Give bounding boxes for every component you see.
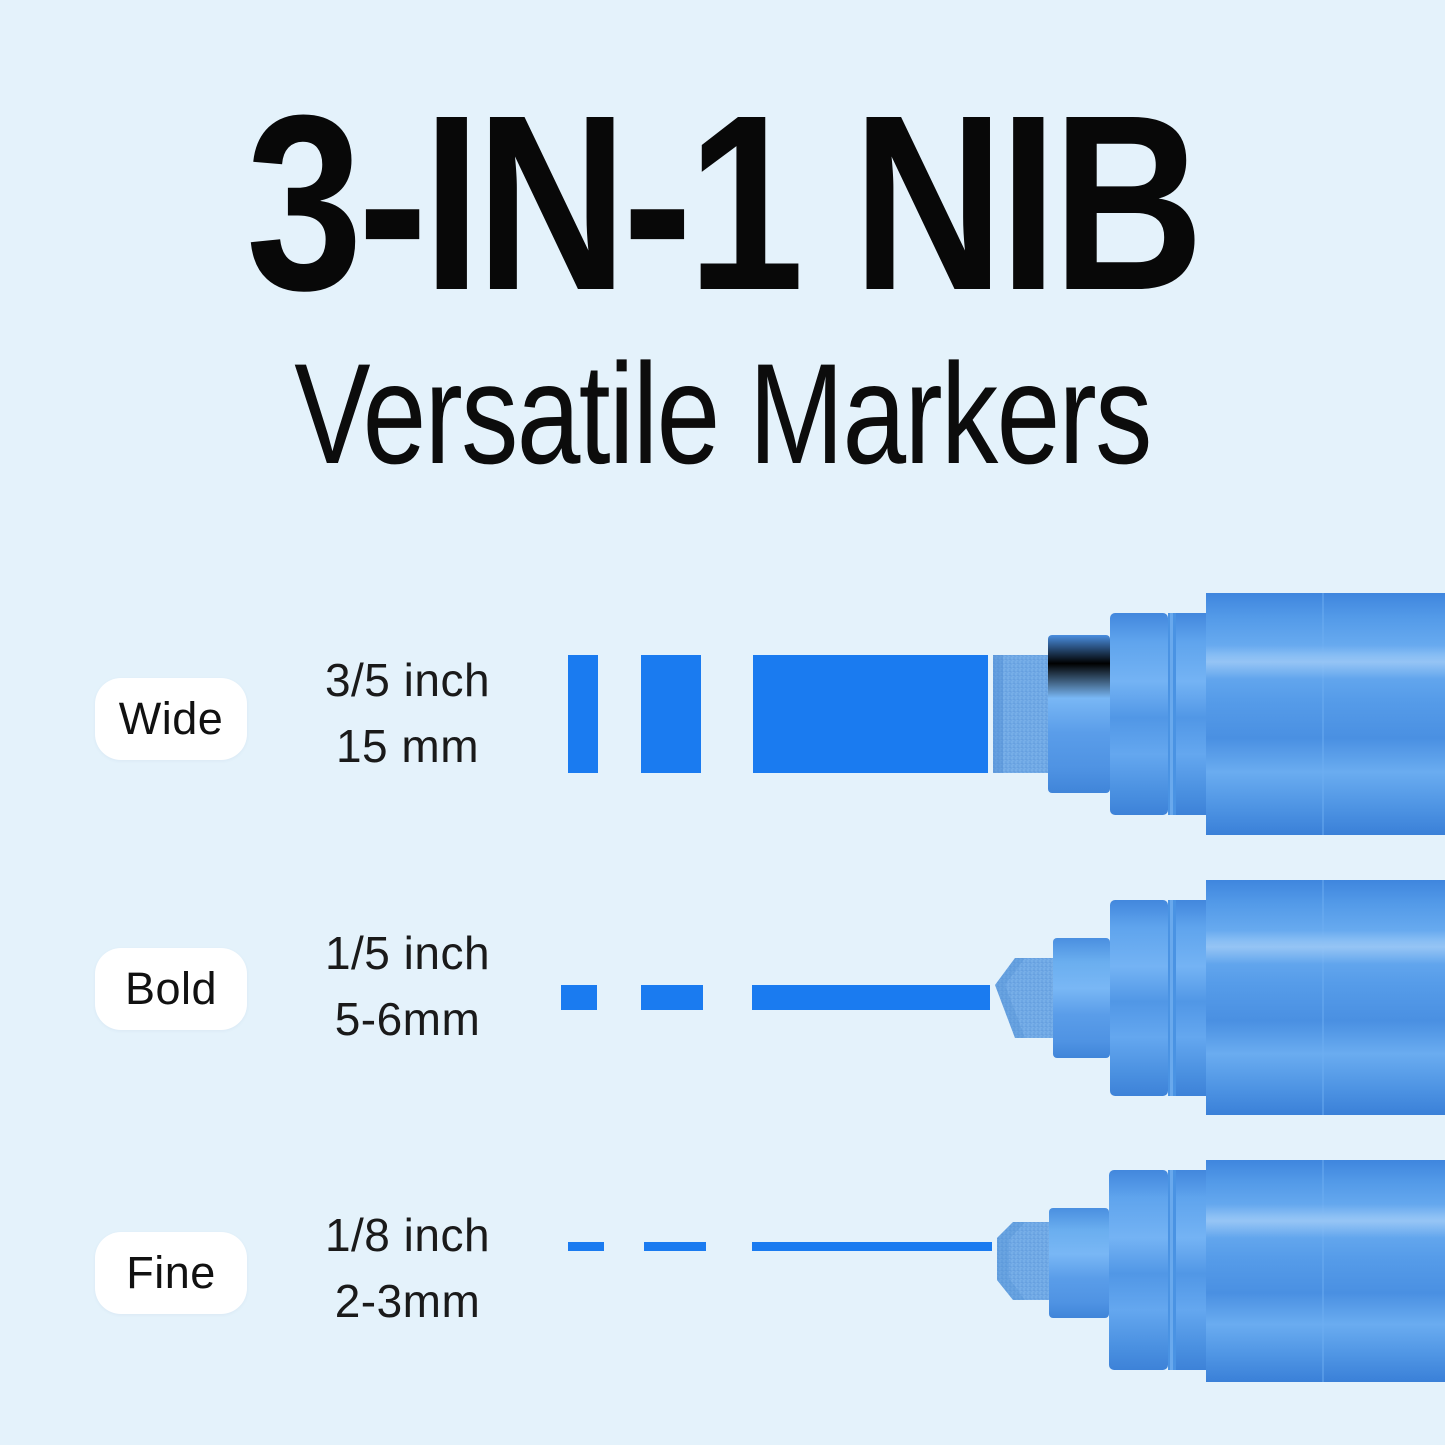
barrel-wide [1206,593,1445,835]
stroke-dash-short [561,985,597,1010]
ferrule-bold [1110,900,1168,1096]
ferrule-step-wide [1176,613,1206,815]
barrel-seam-fine [1322,1160,1324,1382]
barrel-fine [1206,1160,1445,1382]
ferrule-fine [1109,1170,1168,1370]
barrel-seam-bold [1322,880,1324,1115]
nib-row-bold: Bold 1/5 inch 5-6mm [0,880,1445,1145]
stroke-dash-medium [644,1242,706,1251]
nib-collar-bold [1053,938,1110,1058]
stroke-dash-short [568,655,598,773]
nib-comparison-rows: Wide 3/5 inch 15 mm [0,0,1445,1445]
barrel-gloss-bold [1206,930,1445,964]
stroke-dash-short [568,1242,604,1251]
marker-pen-wide [975,585,1445,850]
nib-collar-wide [1048,635,1110,793]
stroke-line-long [753,655,988,773]
barrel-gloss-wide [1206,645,1445,679]
barrel-gloss-fine [1206,1204,1445,1238]
stroke-line-long [752,985,990,1010]
barrel-seam-wide [1322,593,1324,835]
nib-collar-fine [1049,1208,1109,1318]
ferrule-wide [1110,613,1168,815]
ferrule-step-bold [1176,900,1206,1096]
marker-pen-bold [975,880,1445,1145]
ferrule-step-fine [1176,1170,1206,1370]
barrel-bold [1206,880,1445,1115]
stroke-dash-medium [641,655,701,773]
marker-pen-fine [975,1160,1445,1425]
nib-row-wide: Wide 3/5 inch 15 mm [0,585,1445,850]
stroke-line-long [752,1242,992,1251]
nib-row-fine: Fine 1/8 inch 2-3mm [0,1160,1445,1425]
stroke-dash-medium [641,985,703,1010]
